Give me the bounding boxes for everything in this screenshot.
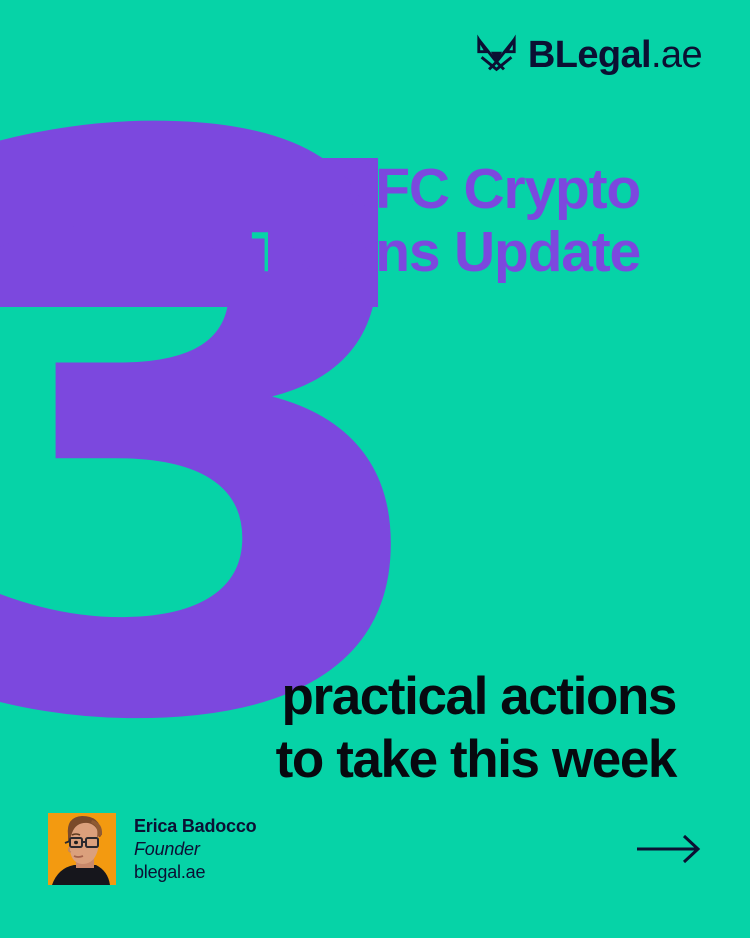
- subheadline: practical actions to take this week: [276, 665, 676, 791]
- headline-line-1-base: DIFC Crypto: [321, 158, 640, 221]
- avatar: [48, 813, 116, 885]
- headline-line-2-base: Tokens Update: [251, 221, 640, 284]
- author-role: Founder: [134, 840, 256, 858]
- arrow-right-icon[interactable]: [636, 834, 702, 864]
- footer: Erica Badocco Founder blegal.ae: [48, 810, 702, 888]
- brand-tld: .ae: [651, 34, 702, 76]
- byline: Erica Badocco Founder blegal.ae: [134, 817, 256, 881]
- social-card: BLegal.ae 3 DIFC Crypto DIFC Crypto Toke…: [0, 0, 750, 938]
- subheadline-line-2: to take this week: [276, 728, 676, 791]
- brand-logo[interactable]: BLegal.ae: [476, 34, 702, 75]
- fox-head-icon: [476, 34, 517, 75]
- subheadline-line-1: practical actions: [276, 665, 676, 728]
- brand-name: BLegal: [528, 34, 651, 76]
- headline: DIFC Crypto DIFC Crypto Tokens Update To…: [0, 158, 640, 284]
- author-name: Erica Badocco: [134, 817, 256, 835]
- author-website: blegal.ae: [134, 863, 256, 881]
- headline-line-2: Tokens Update Tokens Update: [0, 221, 640, 284]
- headline-line-1: DIFC Crypto DIFC Crypto: [0, 158, 640, 221]
- brand-wordmark: BLegal.ae: [528, 36, 702, 74]
